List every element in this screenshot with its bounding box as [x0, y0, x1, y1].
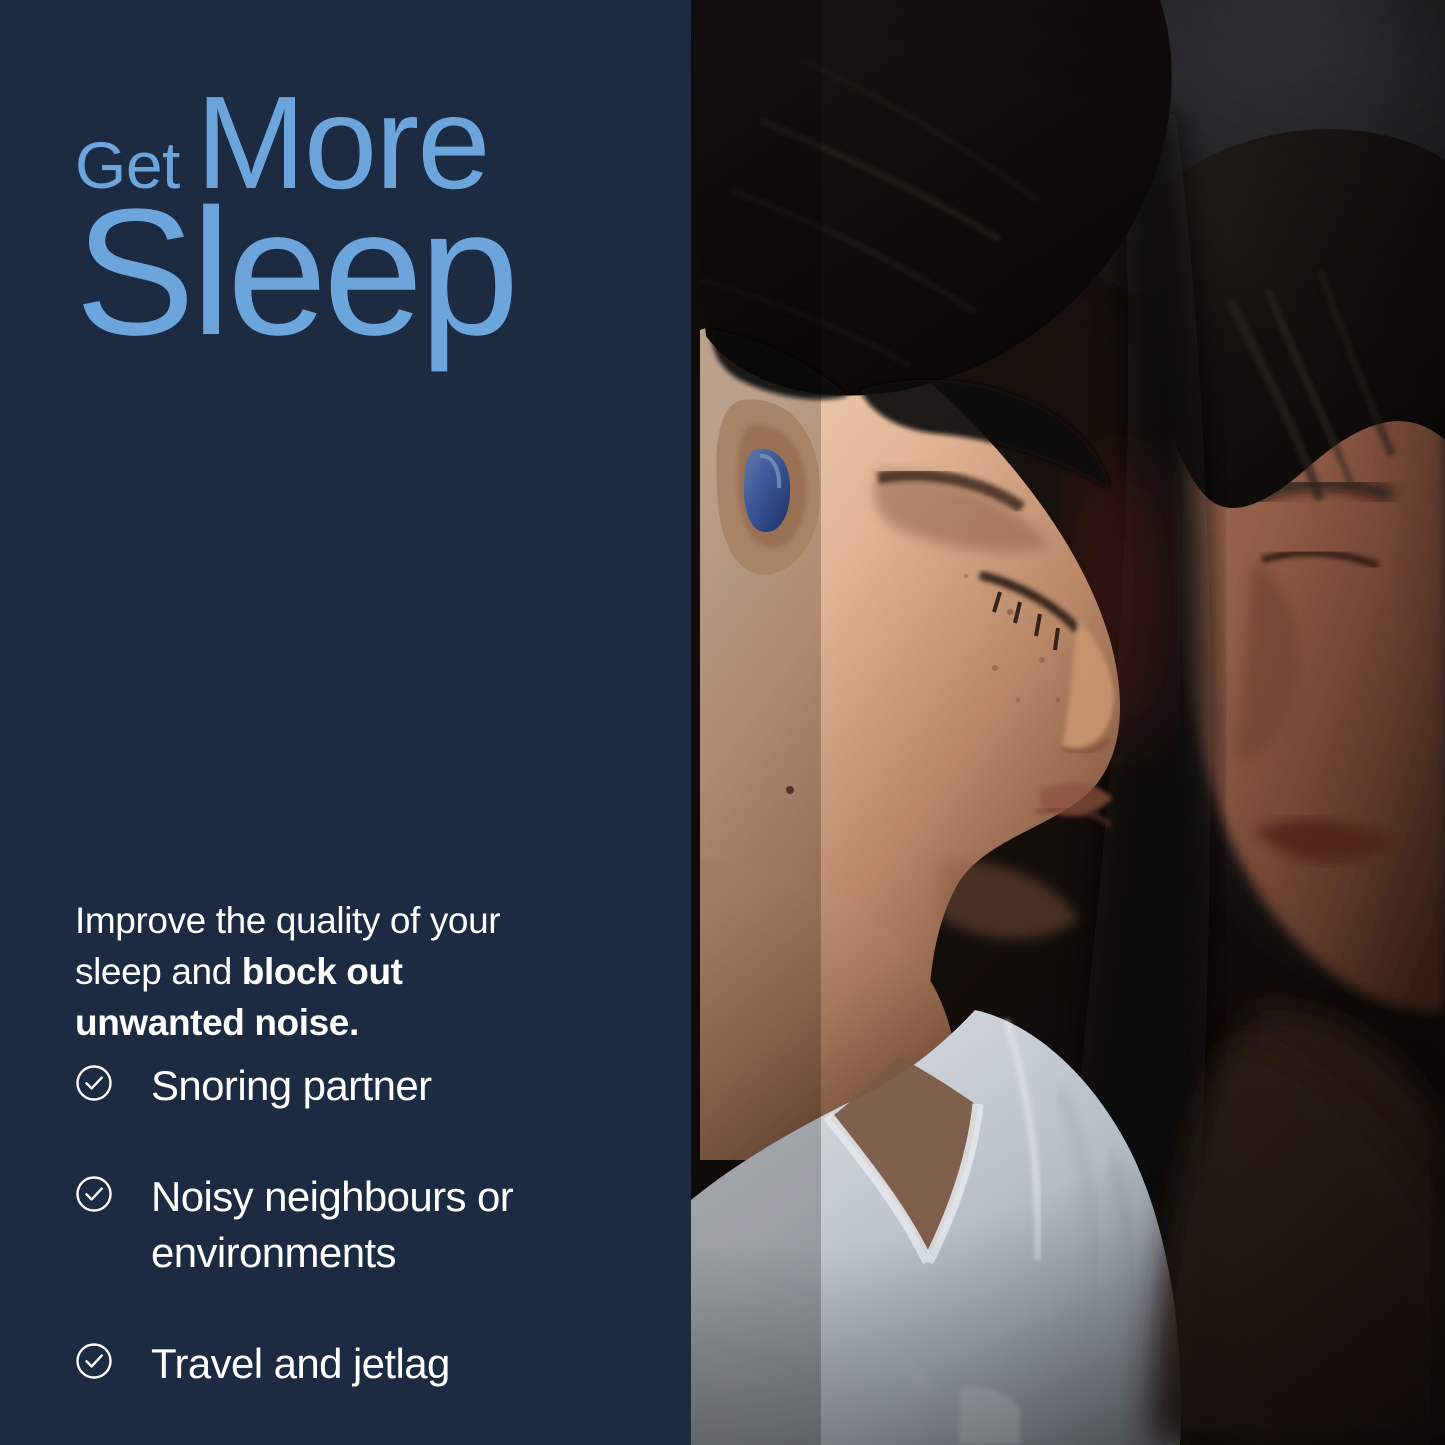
list-item: Snoring partner [75, 1058, 675, 1113]
check-circle-icon [75, 1342, 113, 1380]
headline-line-2: Sleep [75, 185, 675, 361]
benefit-label: Travel and jetlag [151, 1336, 450, 1391]
benefit-label: Noisy neighbours or environments [151, 1169, 621, 1280]
subcopy-paragraph: Improve the quality of your sleep and bl… [75, 895, 575, 1048]
page-title: GetMore Sleep [75, 78, 675, 362]
list-item: Noisy neighbours or environments [75, 1169, 675, 1280]
benefit-label: Snoring partner [151, 1058, 432, 1113]
list-item: Travel and jetlag [75, 1336, 675, 1391]
benefit-list: Snoring partner Noisy neighbours or envi… [75, 1058, 675, 1392]
check-circle-icon [75, 1064, 113, 1102]
promo-graphic: GetMore Sleep Improve the quality of you… [0, 0, 1445, 1445]
check-circle-icon [75, 1175, 113, 1213]
